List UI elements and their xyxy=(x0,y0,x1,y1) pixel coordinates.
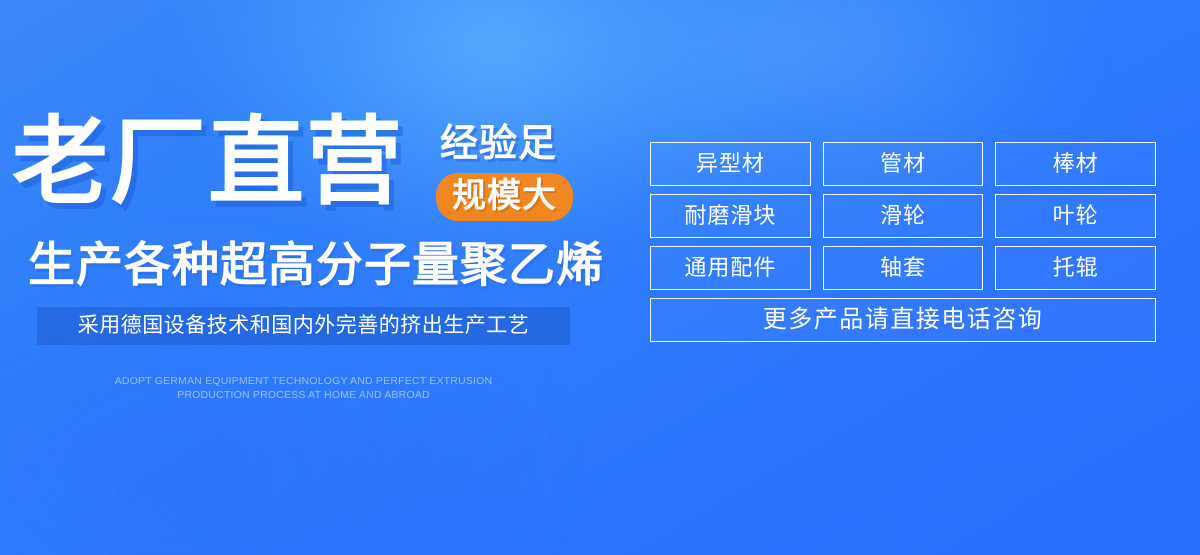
promo-banner: 老厂直营 经验足 规模大 生产各种超高分子量聚乙烯 采用德国设备技术和国内外完善… xyxy=(0,0,1200,555)
product-button-2-0[interactable]: 通用配件 xyxy=(650,246,811,290)
tagline-text: 采用德国设备技术和国内外完善的挤出生产工艺 xyxy=(78,314,530,338)
tagline-bar: 采用德国设备技术和国内外完善的挤出生产工艺 xyxy=(37,307,570,345)
english-tagline-line-2: PRODUCTION PROCESS AT HOME AND ABROAD xyxy=(37,388,570,402)
product-row: 异型材 管材 棒材 xyxy=(650,142,1156,186)
product-button-2-1[interactable]: 轴套 xyxy=(823,246,984,290)
product-button-label: 滑轮 xyxy=(880,203,926,229)
product-row: 耐磨滑块 滑轮 叶轮 xyxy=(650,194,1156,238)
product-button-label: 棒材 xyxy=(1053,151,1099,177)
product-button-label: 托辊 xyxy=(1053,255,1099,281)
product-button-label: 耐磨滑块 xyxy=(684,203,776,229)
badge-scale-label: 规模大 xyxy=(452,177,557,215)
product-button-1-0[interactable]: 耐磨滑块 xyxy=(650,194,811,238)
contact-cta-button[interactable]: 更多产品请直接电话咨询 xyxy=(650,298,1156,342)
product-button-0-2[interactable]: 棒材 xyxy=(995,142,1156,186)
product-button-0-0[interactable]: 异型材 xyxy=(650,142,811,186)
page-title: 老厂直营 xyxy=(12,110,404,215)
badge-stack: 经验足 规模大 xyxy=(436,122,601,221)
badge-scale-pill: 规模大 xyxy=(436,173,573,221)
product-button-label: 通用配件 xyxy=(684,255,776,281)
product-button-2-2[interactable]: 托辊 xyxy=(995,246,1156,290)
product-cta-row: 更多产品请直接电话咨询 xyxy=(650,298,1156,342)
product-button-label: 叶轮 xyxy=(1053,203,1099,229)
headline-block: 老厂直营 经验足 规模大 生产各种超高分子量聚乙烯 采用德国设备技术和国内外完善… xyxy=(0,0,615,555)
badge-experience: 经验足 xyxy=(436,122,601,167)
contact-cta-label: 更多产品请直接电话咨询 xyxy=(763,307,1044,333)
product-button-label: 管材 xyxy=(880,151,926,177)
product-button-label: 轴套 xyxy=(880,255,926,281)
product-button-1-1[interactable]: 滑轮 xyxy=(823,194,984,238)
english-tagline-line-1: ADOPT GERMAN EQUIPMENT TECHNOLOGY AND PE… xyxy=(37,374,570,388)
headline-row: 老厂直营 经验足 规模大 xyxy=(8,110,608,225)
product-button-0-1[interactable]: 管材 xyxy=(823,142,984,186)
product-category-grid: 异型材 管材 棒材 耐磨滑块 滑轮 叶轮 通用配件 xyxy=(650,142,1156,350)
product-row: 通用配件 轴套 托辊 xyxy=(650,246,1156,290)
product-button-1-2[interactable]: 叶轮 xyxy=(995,194,1156,238)
product-button-label: 异型材 xyxy=(696,151,765,177)
page-subtitle: 生产各种超高分子量聚乙烯 xyxy=(28,236,604,294)
english-tagline-block: ADOPT GERMAN EQUIPMENT TECHNOLOGY AND PE… xyxy=(37,374,570,402)
